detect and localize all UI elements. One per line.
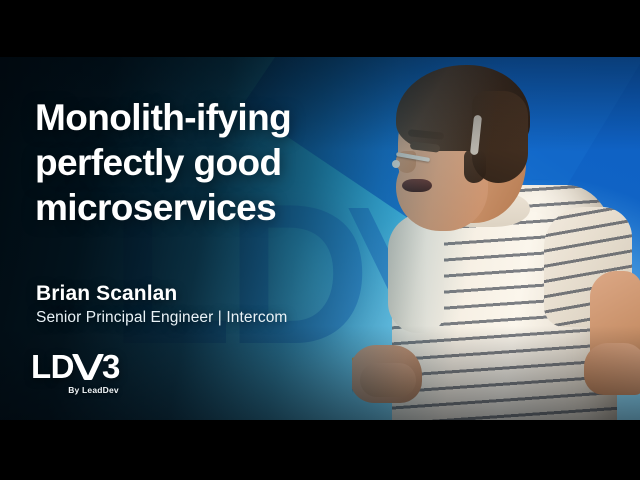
letterbox-bar-top bbox=[0, 0, 640, 57]
letterbox-bar-bottom bbox=[0, 420, 640, 480]
video-thumbnail-frame: LD 3 bbox=[0, 0, 640, 480]
talk-title-line-3: microservices bbox=[35, 185, 375, 230]
talk-title-line-2: perfectly good bbox=[35, 140, 375, 185]
talk-title: Monolith-ifying perfectly good microserv… bbox=[35, 95, 375, 230]
speaker-role: Senior Principal Engineer | Intercom bbox=[36, 309, 287, 327]
ldx3-wordmark-x-icon bbox=[75, 354, 101, 380]
title-overlay: Monolith-ifying perfectly good microserv… bbox=[0, 57, 640, 420]
speaker-name: Brian Scanlan bbox=[36, 282, 177, 306]
ldx3-wordmark-ld: LD bbox=[31, 350, 74, 383]
ldx3-wordmark: LD 3 bbox=[31, 350, 120, 383]
ldx3-logo: LD 3 By LeadDev bbox=[31, 350, 120, 395]
talk-title-line-1: Monolith-ifying bbox=[35, 95, 375, 140]
ldx3-wordmark-3: 3 bbox=[102, 350, 120, 383]
ldx3-byline: By LeadDev bbox=[31, 385, 120, 395]
